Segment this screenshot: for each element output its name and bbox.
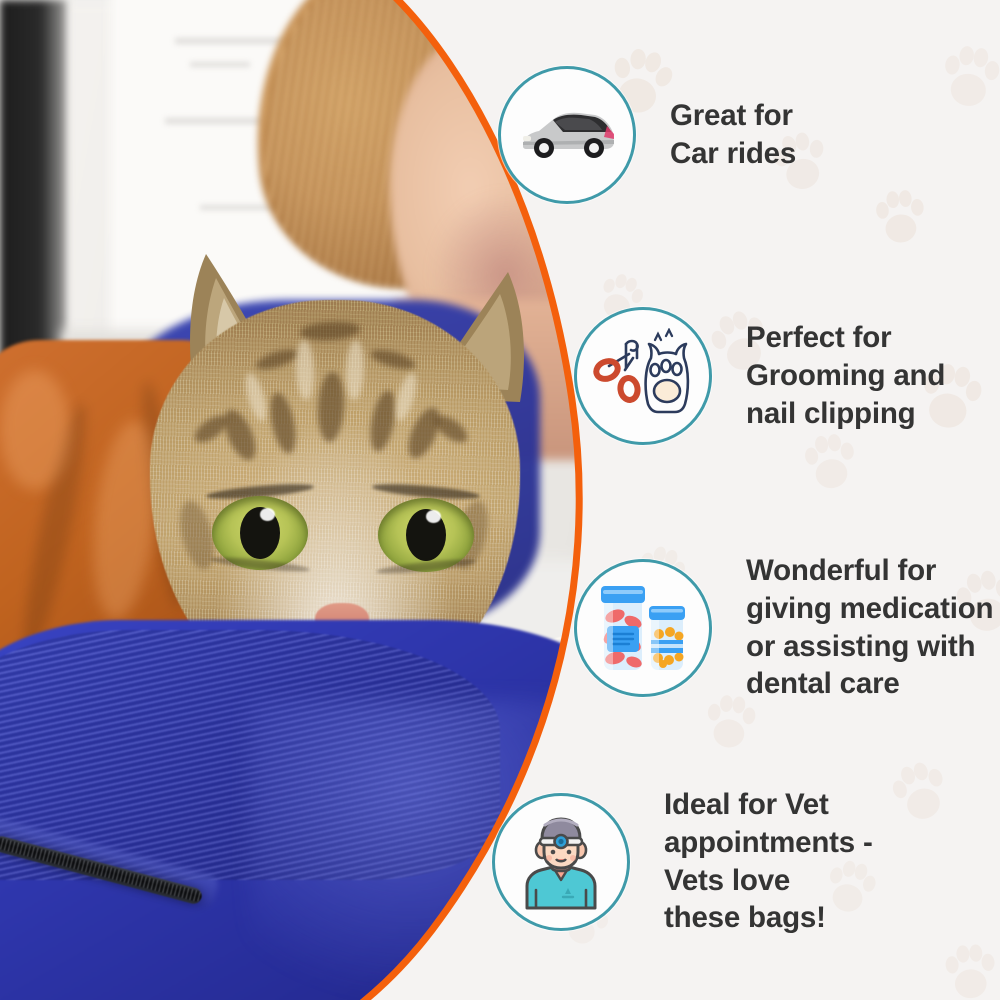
feature-label-grooming: Perfect for Grooming and nail clipping	[746, 319, 945, 432]
feature-item-medication: Wonderful for giving medication or assis…	[574, 552, 993, 703]
feature-item-grooming: Perfect for Grooming and nail clipping	[574, 307, 945, 445]
feature-item-vet: Ideal for Vet appointments - Vets love t…	[492, 786, 873, 937]
feature-label-car-rides: Great for Car rides	[670, 97, 796, 173]
car-icon	[498, 66, 636, 204]
feature-label-medication: Wonderful for giving medication or assis…	[746, 552, 993, 703]
feature-item-car-rides: Great for Car rides	[498, 66, 796, 204]
pill-bottles-icon	[574, 559, 712, 697]
veterinarian-icon	[492, 793, 630, 931]
product-feature-poster: Great for Car rides	[0, 0, 1000, 1000]
nail-clippers-paw-icon	[574, 307, 712, 445]
feature-label-vet: Ideal for Vet appointments - Vets love t…	[664, 786, 873, 937]
feature-list: Great for Car rides	[0, 0, 1000, 1000]
